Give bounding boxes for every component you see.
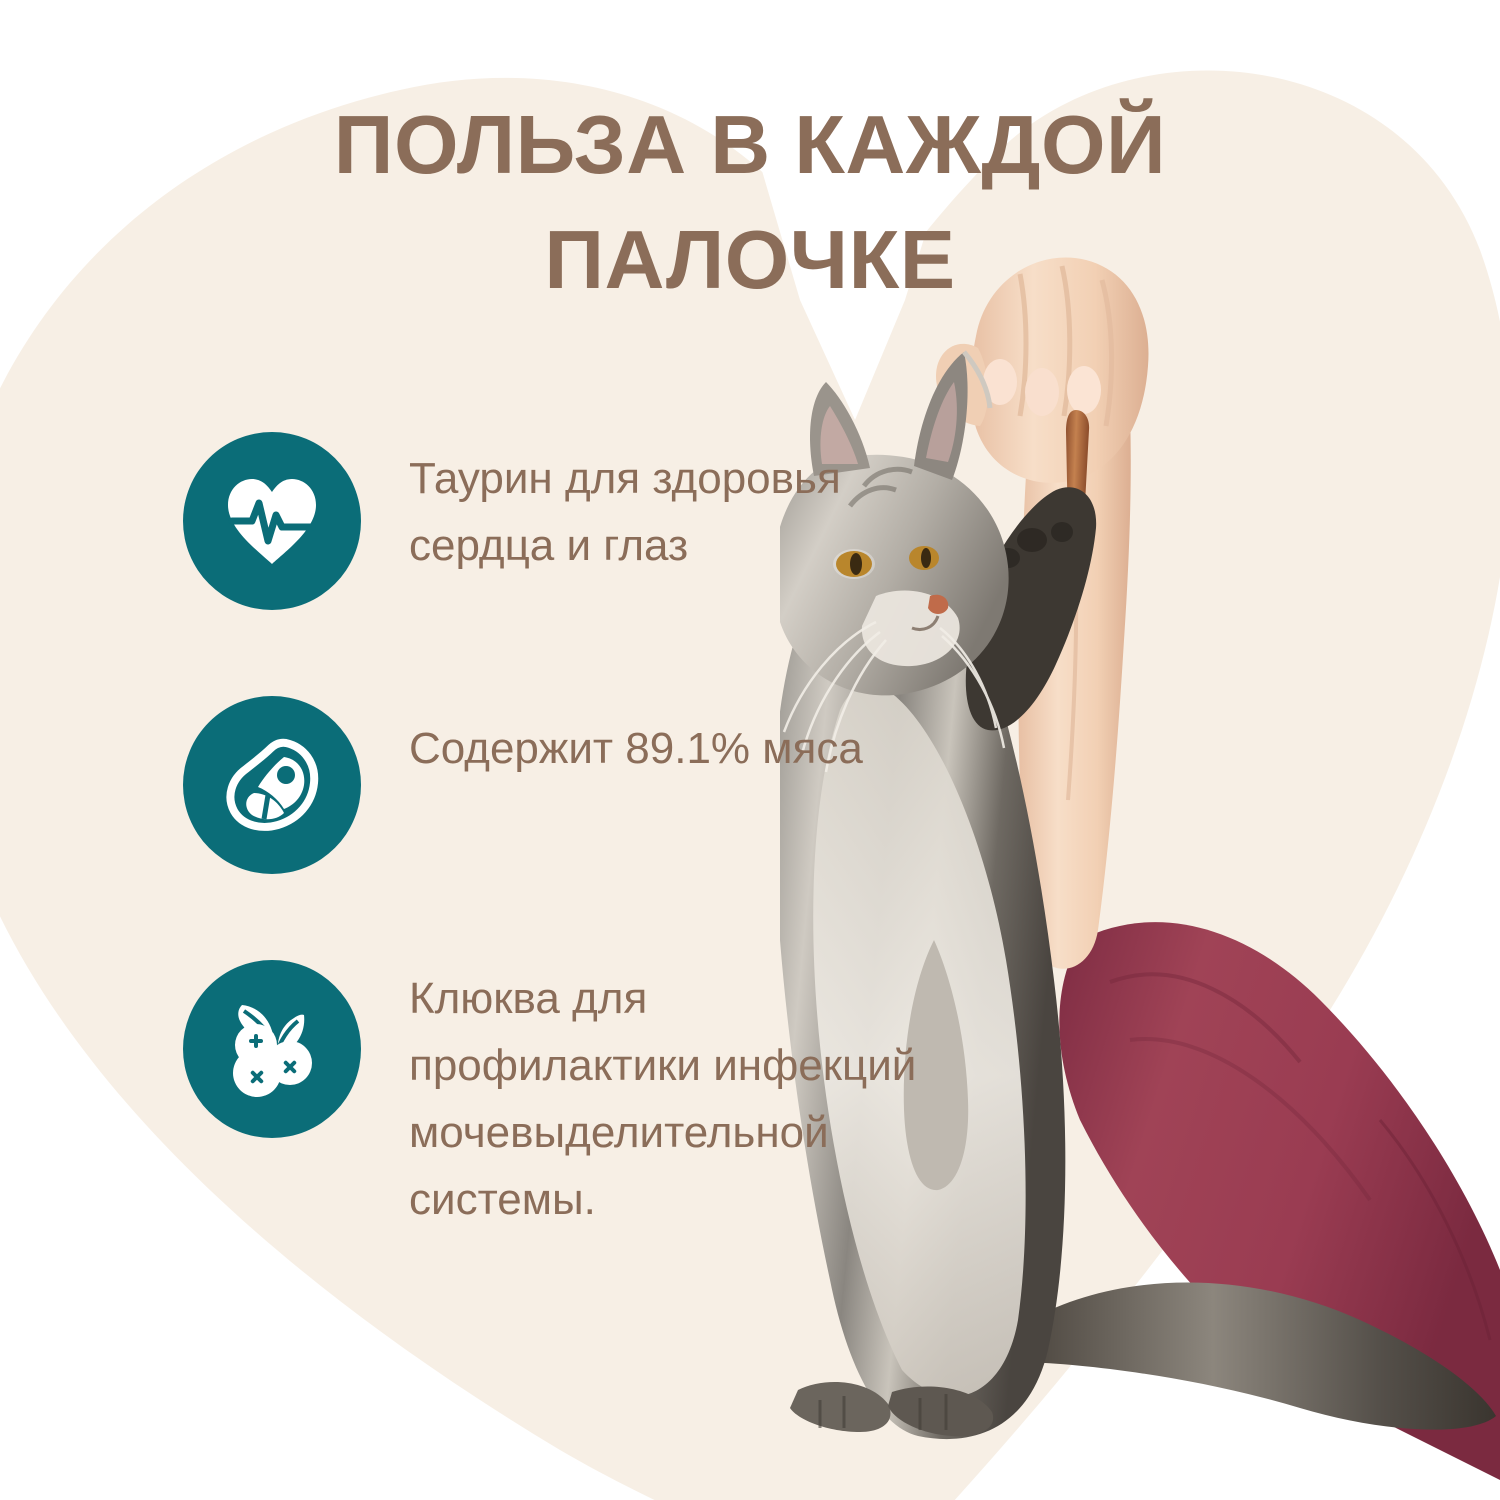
benefit-label: Таурин для здоровья сердца и глаз — [409, 432, 939, 580]
benefits-list: Таурин для здоровья сердца и глаз Содерж… — [183, 432, 963, 1234]
page-title-line-1: ПОЛЬЗА В КАЖДОЙ — [150, 88, 1350, 203]
meat-cut-icon — [220, 733, 324, 837]
benefit-item: Таурин для здоровья сердца и глаз — [183, 432, 963, 610]
benefit-item: Содержит 89.1% мяса — [183, 696, 963, 874]
benefit-item: Клюква для профилактики инфекций мочевыд… — [183, 960, 963, 1234]
heart-pulse-icon — [218, 467, 326, 575]
benefit-label: Содержит 89.1% мяса — [409, 696, 863, 783]
cranberry-icon — [220, 997, 324, 1101]
infographic-canvas: ПОЛЬЗА В КАЖДОЙ ПАЛОЧКЕ — [0, 0, 1500, 1500]
benefit-icon-badge — [183, 432, 361, 610]
benefit-icon-badge — [183, 960, 361, 1138]
page-title-line-2: ПАЛОЧКЕ — [150, 203, 1350, 318]
benefit-label: Клюква для профилактики инфекций мочевыд… — [409, 960, 939, 1234]
benefit-icon-badge — [183, 696, 361, 874]
page-title: ПОЛЬЗА В КАЖДОЙ ПАЛОЧКЕ — [150, 88, 1350, 317]
